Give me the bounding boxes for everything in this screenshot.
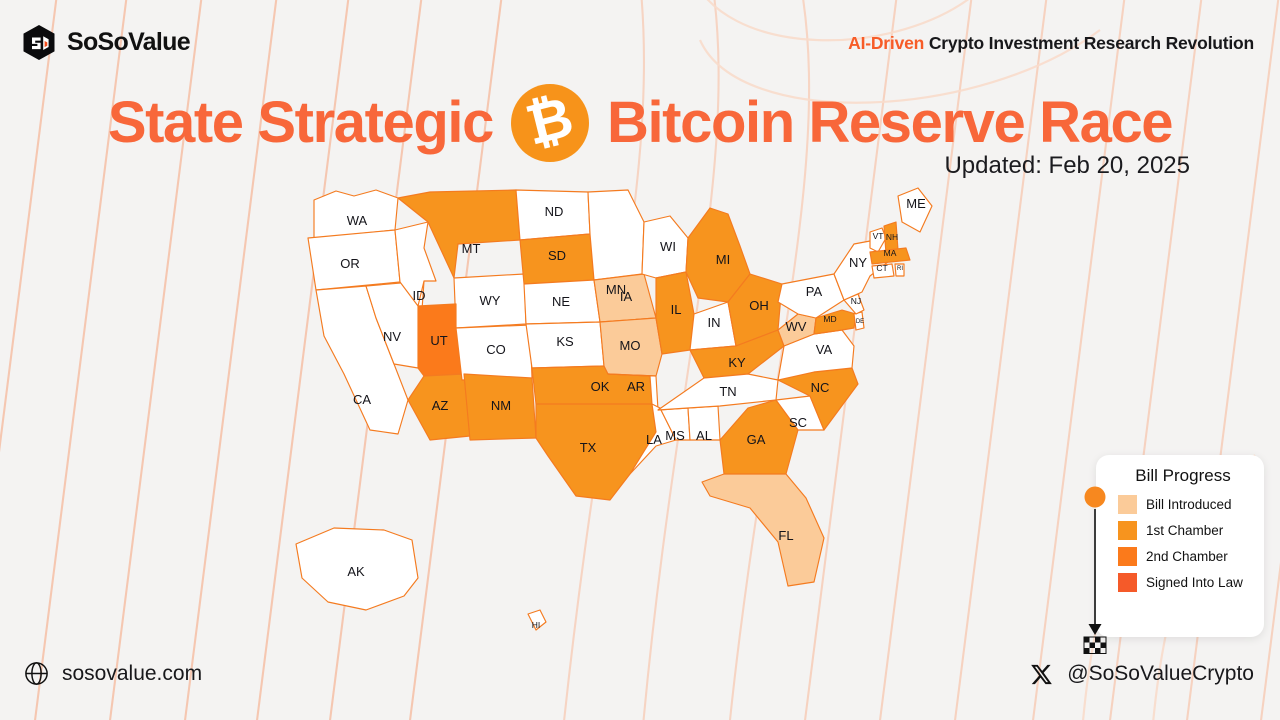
- map-state-label-ms: MS: [665, 428, 685, 443]
- map-state-label-mi: MI: [716, 252, 730, 267]
- brand-name: SoSoValue: [67, 28, 190, 57]
- map-state-label-wv: WV: [786, 319, 807, 334]
- legend-item-label: Bill Introduced: [1146, 497, 1232, 512]
- legend-progress-arrow: [1078, 483, 1112, 655]
- map-state-label-ne: NE: [552, 294, 570, 309]
- map-state-label-sc: SC: [789, 415, 807, 430]
- map-state-label-vt: VT: [873, 231, 884, 241]
- map-state-label-hi: HI: [532, 620, 541, 630]
- brand-logo[interactable]: SoSoValue: [22, 24, 190, 61]
- legend-item-label: 1st Chamber: [1146, 523, 1223, 538]
- tagline-rest: Crypto Investment Research Revolution: [929, 33, 1254, 53]
- legend-item: 1st Chamber: [1118, 521, 1254, 540]
- map-state-label-ar: AR: [627, 379, 645, 394]
- sosovalue-cube-icon: [22, 24, 56, 61]
- legend-swatch: [1118, 521, 1137, 540]
- tagline-highlight: AI-Driven: [848, 33, 924, 53]
- footer-social[interactable]: @SoSoValueCrypto: [1030, 662, 1254, 686]
- legend-item: Bill Introduced: [1118, 495, 1254, 514]
- map-state-label-tn: TN: [719, 384, 736, 399]
- map-state-label-nd: ND: [545, 204, 564, 219]
- legend-swatch: [1118, 495, 1137, 514]
- map-state-label-me: ME: [906, 196, 926, 211]
- legend-swatch: [1118, 573, 1137, 592]
- website-label: sosovalue.com: [62, 662, 202, 686]
- legend-title: Bill Progress: [1112, 466, 1254, 486]
- checkered-flag-icon: [1084, 637, 1106, 654]
- map-state-label-tx: TX: [580, 440, 597, 455]
- tagline: AI-Driven Crypto Investment Research Rev…: [848, 33, 1254, 54]
- globe-icon: [24, 661, 49, 686]
- map-state-label-ak: AK: [347, 564, 365, 579]
- footer-website[interactable]: sosovalue.com: [24, 661, 202, 686]
- map-state-label-pa: PA: [806, 284, 823, 299]
- legend-item: Signed Into Law: [1118, 573, 1254, 592]
- social-label: @SoSoValueCrypto: [1067, 662, 1254, 686]
- map-state-label-md: MD: [823, 314, 836, 324]
- legend-swatch: [1118, 547, 1137, 566]
- map-state-label-az: AZ: [432, 398, 449, 413]
- map-state-label-fl: FL: [778, 528, 793, 543]
- title-part-1: State Strategic: [108, 94, 493, 152]
- map-state-label-ri: RI: [897, 266, 903, 272]
- x-twitter-icon: [1030, 663, 1053, 686]
- map-state-label-ca: CA: [353, 392, 371, 407]
- map-state-label-nm: NM: [491, 398, 511, 413]
- map-state-label-al: AL: [696, 428, 712, 443]
- map-state-label-ks: KS: [556, 334, 574, 349]
- map-state-label-va: VA: [816, 342, 833, 357]
- map-state-label-id: ID: [413, 288, 426, 303]
- legend-item: 2nd Chamber: [1118, 547, 1254, 566]
- map-state-label-ok: OK: [591, 379, 610, 394]
- title-part-2: Bitcoin Reserve Race: [607, 94, 1172, 152]
- map-state-label-in: IN: [708, 315, 721, 330]
- us-choropleth-map: WAORCANVIDMTWYUTAZCONMNDSDNEKSOKTXMNIAMO…: [258, 178, 1048, 658]
- map-state-label-mo: MO: [620, 338, 641, 353]
- map-state-label-nv: NV: [383, 329, 401, 344]
- map-state-label-ct: CT: [876, 263, 887, 273]
- map-state-label-nh: NH: [886, 232, 898, 242]
- map-state-label-sd: SD: [548, 248, 566, 263]
- map-state-label-nc: NC: [811, 380, 830, 395]
- map-state-label-co: CO: [486, 342, 506, 357]
- map-legend: Bill Progress Bill Introduced1st Chamber…: [1096, 455, 1264, 637]
- bitcoin-icon: ₿: [511, 84, 589, 162]
- map-state-label-de: DE: [856, 319, 864, 325]
- map-state-label-la: LA: [646, 432, 662, 447]
- bitcoin-glyph: ₿: [503, 76, 598, 171]
- map-state-label-ny: NY: [849, 255, 867, 270]
- map-state-label-ky: KY: [728, 355, 746, 370]
- map-state-label-oh: OH: [749, 298, 769, 313]
- legend-item-label: 2nd Chamber: [1146, 549, 1228, 564]
- map-state-label-mt: MT: [462, 241, 481, 256]
- page-title: State Strategic ₿ Bitcoin Reserve Race: [0, 84, 1280, 162]
- map-state-fl[interactable]: [702, 474, 824, 586]
- map-state-label-wy: WY: [480, 293, 501, 308]
- map-state-mn[interactable]: [588, 190, 644, 280]
- map-state-label-wa: WA: [347, 213, 368, 228]
- map-state-label-ut: UT: [430, 333, 447, 348]
- map-state-label-ma: MA: [884, 248, 897, 258]
- map-state-label-or: OR: [340, 256, 360, 271]
- map-state-label-ia: IA: [620, 289, 633, 304]
- map-state-label-il: IL: [671, 302, 682, 317]
- map-state-label-ga: GA: [747, 432, 766, 447]
- updated-date: Updated: Feb 20, 2025: [944, 152, 1190, 180]
- map-state-label-wi: WI: [660, 239, 676, 254]
- map-state-label-nj: NJ: [851, 296, 861, 306]
- orange-dot-icon: [1085, 487, 1106, 508]
- legend-item-label: Signed Into Law: [1146, 575, 1243, 590]
